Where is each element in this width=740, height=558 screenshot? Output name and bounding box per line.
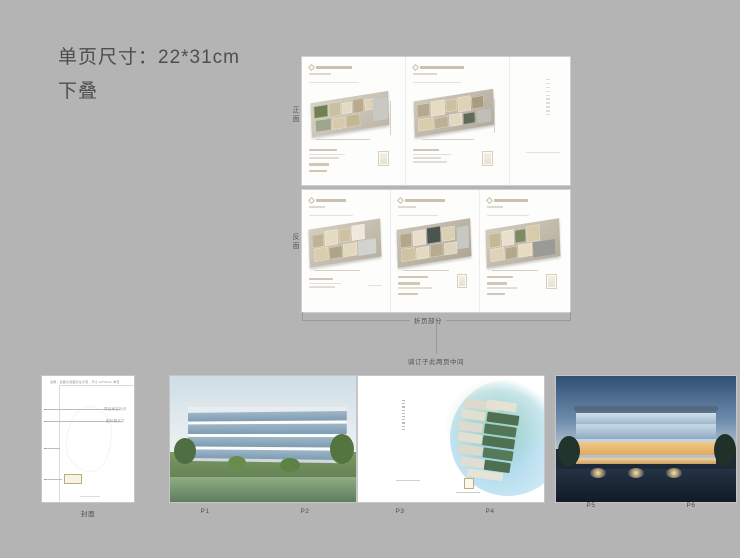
plan-c-header	[309, 198, 383, 203]
callout-dot	[44, 448, 46, 449]
header-bar	[494, 199, 528, 203]
thumbnail-label-p3: P3	[365, 508, 435, 515]
plan-room	[505, 246, 517, 260]
plan-room	[430, 243, 443, 258]
plan-c-info	[309, 278, 347, 288]
binding-leader	[436, 321, 437, 354]
plan-room	[325, 229, 338, 246]
header-bar	[316, 199, 346, 203]
thumbnail-photo-night[interactable]	[556, 376, 736, 502]
index-mark	[546, 106, 550, 107]
info-line	[413, 154, 451, 156]
lot-block	[461, 409, 486, 421]
thumbnail-cover[interactable]: 说明：此图为封面标注示意，尺寸 22*31cm 单页 项目案名标识 副标题文字 …	[42, 376, 134, 502]
callout-dot	[44, 421, 46, 422]
info-line	[309, 163, 329, 166]
diamond-icon	[397, 197, 404, 204]
subheader-bar	[413, 73, 437, 75]
text-mark	[402, 400, 405, 401]
glazing-band	[576, 427, 716, 439]
text-mark	[402, 419, 405, 420]
cover-callout-1: 项目案名标识	[104, 406, 127, 411]
info-title-bar	[309, 278, 333, 280]
info-line	[487, 282, 507, 285]
dimension-line	[422, 139, 474, 140]
plan-room	[518, 243, 532, 258]
plan-room	[489, 232, 501, 248]
plan-a-info	[309, 149, 349, 172]
subheader-bar	[309, 206, 325, 208]
info-line	[309, 286, 335, 288]
floorplan-render-c	[309, 218, 382, 267]
plan-room	[434, 116, 448, 129]
plan-room	[351, 224, 364, 241]
index-mark	[546, 102, 550, 103]
thumbnail-label-p5: P5	[556, 502, 626, 509]
plan-e-header	[487, 198, 563, 203]
lot-block	[460, 456, 485, 468]
diamond-icon	[412, 64, 419, 71]
plan-room	[502, 229, 514, 246]
callout-dot	[44, 479, 46, 480]
index-mark	[546, 98, 550, 99]
plan-room	[342, 102, 352, 115]
spread-side-label-front: 正面	[288, 95, 302, 135]
plan-room	[463, 112, 475, 125]
siteplan-vertical-text	[402, 400, 405, 430]
callout-dot	[44, 409, 46, 410]
page-index[interactable]	[510, 57, 570, 185]
caption-bar	[487, 215, 529, 216]
index-mark	[546, 95, 550, 96]
plan-c-footnote	[368, 285, 382, 286]
text-mark	[402, 403, 405, 404]
plan-room	[515, 229, 526, 244]
info-line	[413, 157, 441, 159]
reflecting-pool	[556, 469, 736, 502]
lit-interior-band	[576, 442, 716, 455]
floorplan-render-a	[311, 91, 390, 137]
plan-room	[449, 113, 462, 127]
binding-label: 骑订子此两页中间	[404, 356, 468, 366]
floorplan-render-e	[486, 218, 561, 268]
plan-room	[339, 228, 351, 243]
pool-light	[590, 468, 606, 478]
plan-d-info	[398, 276, 438, 295]
index-mark	[546, 87, 550, 88]
lit-interior-band	[576, 458, 716, 464]
plan-room	[431, 99, 445, 116]
page-plan-d[interactable]	[391, 190, 480, 312]
plan-room	[418, 117, 433, 131]
info-line	[309, 154, 345, 156]
caption-bar	[398, 215, 438, 216]
plan-a-swatch	[378, 151, 389, 166]
glazing-band	[576, 413, 716, 424]
plan-room	[329, 245, 342, 259]
text-mark	[402, 406, 405, 407]
page-plan-e[interactable]	[480, 190, 570, 312]
thumbnail-label-cover: 封面	[42, 508, 134, 518]
dimension-line	[403, 270, 449, 271]
building-volume	[576, 410, 716, 464]
tree	[330, 434, 354, 464]
plan-b-header	[413, 65, 502, 70]
floorplan-render-d	[397, 218, 472, 268]
text-mark	[402, 413, 405, 414]
glazing-band	[188, 424, 347, 434]
pool-light	[628, 468, 644, 478]
tree	[228, 456, 246, 470]
page-title: 单页尺寸：22*31cm	[58, 44, 240, 72]
plan-room	[332, 117, 345, 130]
masterplan-fan	[449, 394, 530, 485]
index-marks	[546, 79, 550, 115]
info-title-bar	[309, 149, 337, 151]
building-volume	[188, 405, 347, 464]
project-emblem	[464, 478, 474, 489]
plan-room	[343, 242, 357, 257]
caption-bar	[309, 82, 359, 83]
spread-back[interactable]	[302, 190, 570, 312]
plan-room	[444, 241, 457, 255]
info-line	[487, 293, 505, 296]
thumbnail-label-p4: P4	[455, 508, 525, 515]
plan-d-swatch	[457, 274, 467, 288]
header-bar	[420, 66, 464, 70]
caption-bar	[309, 215, 353, 216]
subheader-bar	[487, 206, 503, 208]
tree	[558, 436, 580, 466]
plan-room	[401, 247, 415, 262]
tree	[280, 458, 300, 472]
plan-room	[329, 101, 341, 117]
dimension-line	[314, 270, 360, 271]
night-rendering	[556, 376, 736, 502]
info-line	[413, 161, 447, 163]
roof-canopy	[182, 402, 346, 407]
caption-bar	[413, 82, 461, 83]
thumbnail-label-p1: P1	[170, 508, 240, 515]
page-plan-c[interactable]	[302, 190, 391, 312]
text-mark	[402, 410, 405, 411]
info-title-bar	[487, 276, 513, 278]
plan-d-header	[398, 198, 472, 203]
info-line	[309, 157, 339, 159]
spread-side-label-back: 反面	[288, 222, 302, 262]
header-bar	[316, 66, 352, 70]
info-line	[398, 282, 420, 285]
dimension-line	[494, 99, 495, 133]
fold-label: 折页部分	[410, 315, 446, 325]
text-mark	[402, 422, 405, 423]
info-line	[309, 170, 327, 173]
cover-callout-2: 副标题文字	[106, 418, 125, 423]
floorplan-render-b	[414, 89, 495, 138]
text-mark	[402, 426, 405, 427]
index-mark	[546, 79, 550, 80]
index-mark	[546, 110, 550, 111]
tree	[714, 434, 736, 466]
title-block: 单页尺寸：22*31cm 下叠	[58, 44, 240, 106]
text-mark	[402, 416, 405, 417]
plan-room	[526, 224, 539, 242]
plan-room	[457, 95, 470, 112]
index-footer-bar	[526, 152, 560, 153]
roof-canopy	[574, 406, 718, 411]
cover-logo	[64, 474, 82, 484]
page-plan-b[interactable]	[406, 57, 510, 185]
plan-room	[315, 118, 331, 133]
header-bar	[405, 199, 445, 203]
plan-room	[446, 99, 457, 113]
dimension-line	[390, 101, 391, 135]
plan-room	[352, 98, 363, 114]
thumbnail-label-p2: P2	[270, 508, 340, 515]
page-plan-a[interactable]	[302, 57, 406, 185]
plan-a-header	[309, 65, 398, 70]
emblem-caption-rule	[456, 492, 480, 493]
plan-room	[314, 247, 328, 262]
thumbnail-label-p6: P6	[656, 502, 726, 509]
plan-terrace	[477, 108, 491, 123]
tree	[174, 438, 196, 464]
plan-room	[413, 229, 426, 246]
siteplan-caption-rule	[396, 480, 420, 481]
pool-light	[666, 468, 682, 478]
lot-block	[458, 444, 483, 456]
text-mark	[402, 429, 405, 430]
glazing-band	[188, 449, 347, 460]
subheader-bar	[398, 206, 416, 208]
daytime-rendering	[170, 376, 356, 502]
info-line	[309, 283, 341, 285]
dimension-line	[492, 270, 538, 271]
callout-leader	[46, 479, 62, 480]
thumbnail-photo-day[interactable]	[170, 376, 356, 502]
plan-b-swatch	[482, 151, 493, 166]
layout-board: 单页尺寸：22*31cm 下叠 正面 反面	[0, 0, 740, 558]
diamond-icon	[308, 64, 315, 71]
cover-footer: · · ·	[102, 477, 117, 481]
diamond-icon	[308, 197, 315, 204]
info-line	[398, 287, 432, 289]
index-mark	[546, 91, 550, 92]
plan-room	[426, 226, 440, 244]
lot-block	[458, 421, 483, 433]
page-subtitle: 下叠	[58, 78, 240, 106]
info-title-bar	[398, 276, 428, 278]
subheader-bar	[309, 73, 331, 75]
plan-terrace	[358, 238, 376, 256]
plan-room	[312, 233, 324, 248]
plan-room	[400, 232, 412, 248]
info-line	[487, 287, 517, 289]
water-feature	[170, 477, 356, 502]
plan-e-info	[487, 276, 525, 295]
plan-terrace	[373, 97, 389, 121]
plan-terrace	[456, 225, 469, 249]
plan-room	[314, 104, 328, 118]
thumbnail-siteplan[interactable]	[358, 376, 544, 502]
plan-room	[416, 246, 429, 260]
info-line	[398, 293, 418, 296]
cover-bottom-rule	[80, 496, 100, 497]
cover-note: 说明：此图为封面标注示意，尺寸 22*31cm 单页	[50, 380, 120, 384]
plan-room	[346, 113, 360, 127]
diamond-icon	[486, 197, 493, 204]
plan-room	[417, 103, 430, 118]
plan-room	[441, 226, 454, 242]
plan-b-info	[413, 149, 455, 163]
index-mark	[546, 83, 550, 84]
spread-front[interactable]	[302, 57, 570, 185]
plan-room	[490, 247, 504, 262]
lot-block	[457, 432, 482, 444]
info-title-bar	[413, 149, 439, 151]
dimension-line	[316, 139, 370, 140]
plan-e-swatch	[546, 274, 557, 289]
plan-room	[471, 95, 483, 109]
fold-tick-right	[570, 312, 571, 321]
index-mark	[546, 114, 550, 115]
callout-leader	[46, 448, 60, 449]
